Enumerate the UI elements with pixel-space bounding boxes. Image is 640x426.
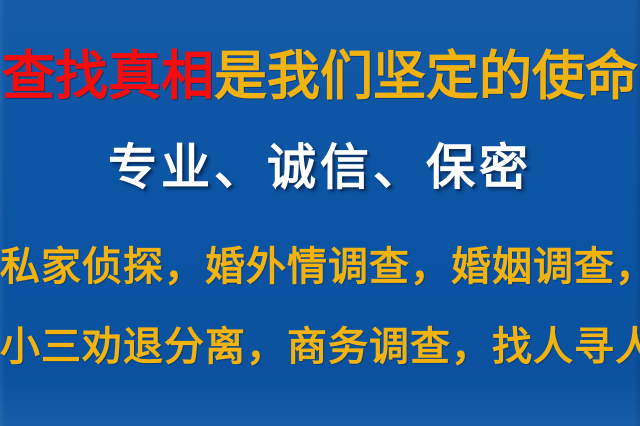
core-values-line: 专业、诚信、保密 bbox=[0, 143, 640, 192]
headline-slogan: 查找真相是我们坚定的使命 bbox=[0, 50, 640, 103]
services-list-line-1: 私家侦探，婚外情调查，婚姻调查， bbox=[0, 247, 640, 287]
advertisement-banner: 查找真相是我们坚定的使命 专业、诚信、保密 私家侦探，婚外情调查，婚姻调查， 小… bbox=[0, 0, 640, 426]
services-list-line-2: 小三劝退分离，商务调查，找人寻人 bbox=[0, 327, 640, 367]
headline-accent-text: 查找真相 bbox=[2, 46, 214, 107]
headline-rest-text: 是我们坚定的使命 bbox=[214, 46, 638, 107]
